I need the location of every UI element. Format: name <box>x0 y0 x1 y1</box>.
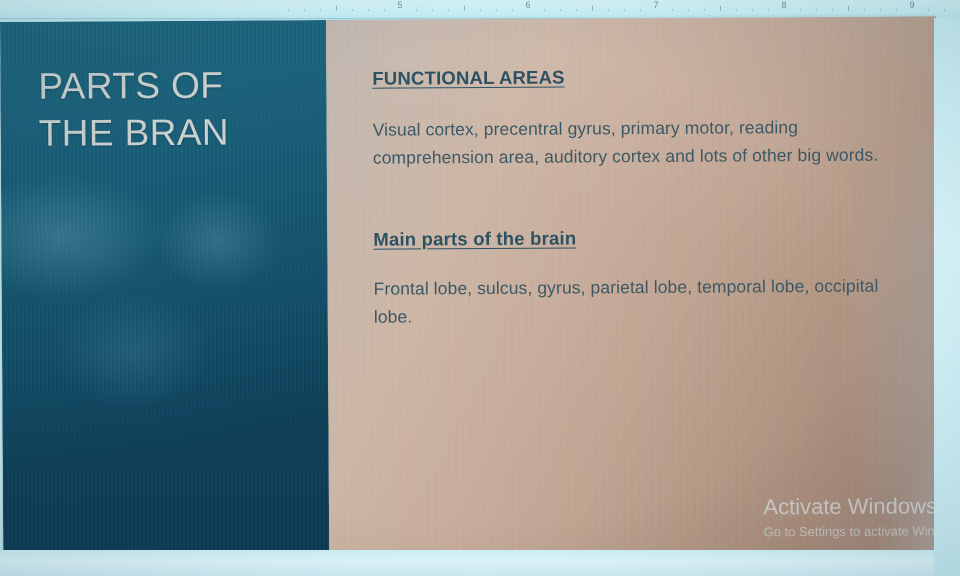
ruler-minor-tick <box>800 9 801 11</box>
ruler-minor-tick <box>544 9 545 11</box>
ruler-half-tick <box>464 6 465 11</box>
ruler-half-tick <box>592 6 593 11</box>
photographed-screen: 56789 PARTS OF THE BRAN FUNCTIONAL AREAS… <box>0 0 960 576</box>
ruler-number-8: 8 <box>781 0 786 10</box>
area-below-slide <box>0 550 960 576</box>
slide-area[interactable]: PARTS OF THE BRAN FUNCTIONAL AREAS Visua… <box>0 16 939 562</box>
ruler-minor-tick <box>736 9 737 11</box>
ruler-minor-tick <box>928 9 929 11</box>
ruler-minor-tick <box>768 9 769 11</box>
ruler-minor-tick <box>624 9 625 11</box>
ruler-minor-tick <box>896 9 897 11</box>
ruler-minor-tick <box>608 9 609 11</box>
ruler-minor-tick <box>704 9 705 11</box>
ruler-half-tick <box>848 6 849 11</box>
ruler-minor-tick <box>944 9 945 11</box>
watermark-title: Activate Windows <box>763 493 939 520</box>
ruler-minor-tick <box>288 9 289 11</box>
ruler-minor-tick <box>432 9 433 11</box>
ruler-minor-tick <box>352 9 353 11</box>
slide-content-panel[interactable]: FUNCTIONAL AREAS Visual cortex, precentr… <box>326 16 939 560</box>
ruler-minor-tick <box>672 9 673 11</box>
ruler-minor-tick <box>448 9 449 11</box>
ruler-minor-tick <box>576 9 577 11</box>
ruler-half-tick <box>336 6 337 11</box>
ruler-minor-tick <box>304 9 305 11</box>
ruler-minor-tick <box>512 9 513 11</box>
slide-title-text[interactable]: PARTS OF THE BRAN <box>38 62 311 158</box>
ruler-half-tick <box>720 6 721 11</box>
ruler-minor-tick <box>496 9 497 11</box>
section-heading-main-parts[interactable]: Main parts of the brain <box>373 225 903 250</box>
ruler-number-6: 6 <box>525 0 530 10</box>
ruler-minor-tick <box>416 9 417 11</box>
ruler-minor-tick <box>688 9 689 11</box>
ruler-minor-tick <box>560 9 561 11</box>
ruler-minor-tick <box>320 9 321 11</box>
area-right-of-slide <box>934 18 960 576</box>
watermark-subtitle: Go to Settings to activate Windows <box>763 523 939 539</box>
section-body-functional-areas[interactable]: Visual cortex, precentral gyrus, primary… <box>373 112 903 172</box>
windows-activation-watermark: Activate Windows Go to Settings to activ… <box>763 493 939 540</box>
ruler-minor-tick <box>752 9 753 11</box>
ruler-minor-tick <box>864 9 865 11</box>
ruler-minor-tick <box>368 9 369 11</box>
section-body-main-parts[interactable]: Frontal lobe, sulcus, gyrus, parietal lo… <box>374 271 904 331</box>
slide-title-panel[interactable]: PARTS OF THE BRAN <box>0 20 329 562</box>
slide[interactable]: PARTS OF THE BRAN FUNCTIONAL AREAS Visua… <box>0 16 939 562</box>
ruler-minor-tick <box>480 9 481 11</box>
ruler-minor-tick <box>640 9 641 11</box>
ruler-minor-tick <box>832 9 833 11</box>
ruler-minor-tick <box>816 9 817 11</box>
ruler-number-7: 7 <box>653 0 658 10</box>
section-heading-functional-areas[interactable]: FUNCTIONAL AREAS <box>372 64 902 89</box>
ruler-minor-tick <box>384 9 385 11</box>
slide-body-textbox[interactable]: FUNCTIONAL AREAS Visual cortex, precentr… <box>372 64 904 331</box>
ruler-number-5: 5 <box>397 0 402 10</box>
ruler-minor-tick <box>880 9 881 11</box>
ruler-number-9: 9 <box>909 0 914 10</box>
